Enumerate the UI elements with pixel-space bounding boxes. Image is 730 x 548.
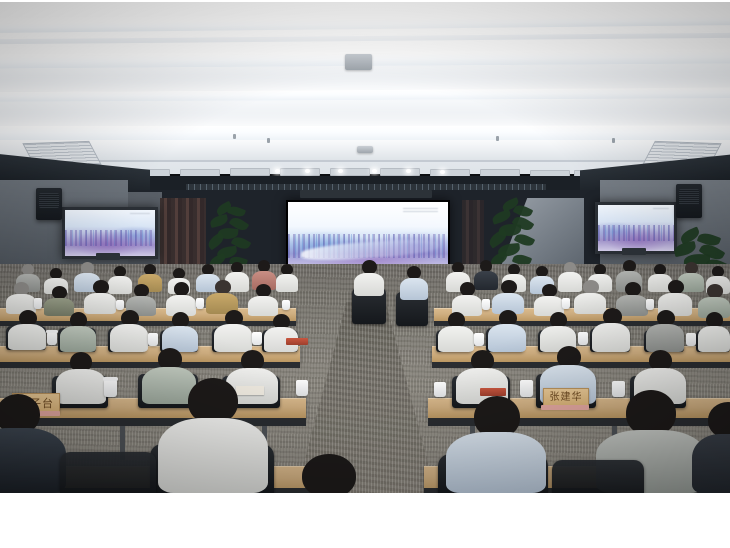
attendee-foreground <box>692 402 730 493</box>
attendee-foreground <box>158 378 268 493</box>
chair[interactable] <box>60 452 156 493</box>
photo-page: 中子台 张建华 <box>0 0 730 548</box>
attendee-foreground <box>446 396 546 493</box>
chair[interactable] <box>552 460 644 493</box>
attendee-foreground <box>286 454 372 493</box>
attendee-foreground <box>0 394 66 493</box>
conference-room-photograph: 中子台 张建华 <box>0 2 730 493</box>
audience-row-e <box>0 2 730 493</box>
